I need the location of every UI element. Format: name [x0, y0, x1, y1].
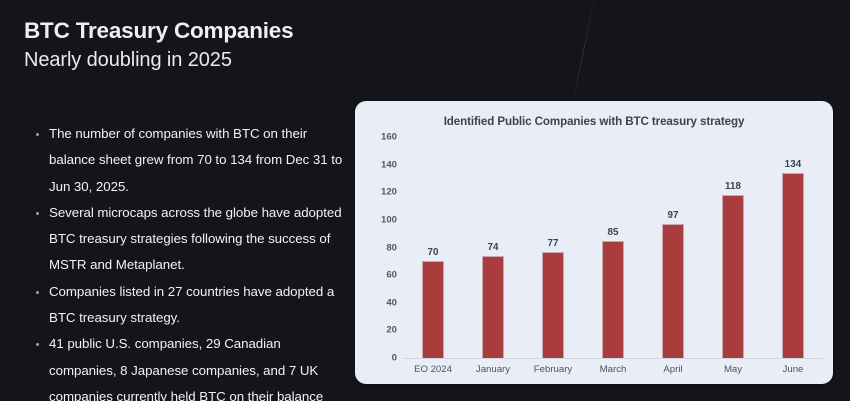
- x-axis-tick-label: May: [699, 364, 767, 375]
- bars-layer: 70EO 202474January77February85March97Apr…: [403, 101, 823, 384]
- bar-group[interactable]: 74January: [463, 256, 523, 358]
- page-header: BTC Treasury Companies Nearly doubling i…: [24, 17, 444, 73]
- chart-bar[interactable]: 118: [722, 195, 744, 358]
- x-axis-tick-label: April: [639, 364, 707, 375]
- chart-bar[interactable]: 134: [782, 173, 804, 358]
- key-points-list: The number of companies with BTC on thei…: [33, 121, 351, 401]
- x-axis-tick-label: February: [519, 364, 587, 375]
- bar-value-label: 85: [603, 227, 623, 238]
- bar-chart-plot: 020406080100120140160 70EO 202474January…: [355, 101, 833, 384]
- y-axis-tick-label: 120: [363, 187, 397, 198]
- bar-value-label: 118: [723, 181, 743, 192]
- bar-value-label: 97: [663, 210, 683, 221]
- y-axis-tick-label: 0: [363, 353, 397, 364]
- bar-value-label: 74: [483, 242, 503, 253]
- bar-group[interactable]: 77February: [523, 252, 583, 358]
- y-axis-tick-label: 40: [363, 297, 397, 308]
- bar-group[interactable]: 70EO 2024: [403, 261, 463, 358]
- y-axis-tick-label: 100: [363, 214, 397, 225]
- chart-bar[interactable]: 85: [602, 241, 624, 358]
- x-axis-tick-label: March: [579, 364, 647, 375]
- chart-bar[interactable]: 70: [422, 261, 444, 358]
- x-axis-tick-label: EO 2024: [399, 364, 467, 375]
- y-axis-tick-label: 160: [363, 132, 397, 143]
- y-axis-tick-label: 140: [363, 159, 397, 170]
- page-subtitle: Nearly doubling in 2025: [24, 47, 444, 73]
- bar-value-label: 70: [423, 247, 443, 258]
- x-axis-tick-label: June: [759, 364, 827, 375]
- bar-group[interactable]: 118May: [703, 195, 763, 358]
- bar-group[interactable]: 97April: [643, 224, 703, 358]
- list-item: Several microcaps across the globe have …: [33, 200, 351, 279]
- chart-card: Identified Public Companies with BTC tre…: [355, 101, 833, 384]
- bar-value-label: 77: [543, 238, 563, 249]
- y-axis-tick-label: 80: [363, 242, 397, 253]
- y-axis-tick-label: 20: [363, 325, 397, 336]
- bar-group[interactable]: 134June: [763, 173, 823, 358]
- chart-bar[interactable]: 97: [662, 224, 684, 358]
- y-axis-tick-label: 60: [363, 270, 397, 281]
- decorative-diagonal-line: [569, 0, 597, 117]
- x-axis-tick-label: January: [459, 364, 527, 375]
- list-item: Companies listed in 27 countries have ad…: [33, 279, 351, 332]
- chart-bar[interactable]: 77: [542, 252, 564, 358]
- list-item: 41 public U.S. companies, 29 Canadian co…: [33, 331, 351, 401]
- page-title: BTC Treasury Companies: [24, 17, 444, 46]
- bar-group[interactable]: 85March: [583, 241, 643, 358]
- chart-bar[interactable]: 74: [482, 256, 504, 358]
- list-item: The number of companies with BTC on thei…: [33, 121, 351, 200]
- bar-value-label: 134: [783, 159, 803, 170]
